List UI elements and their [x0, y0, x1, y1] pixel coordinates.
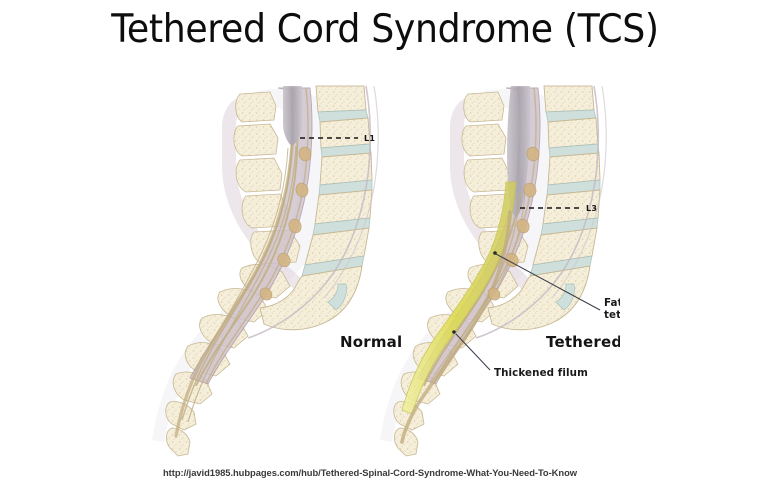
annotation-label-fatty-tissue-line1: Fatty tissue may [604, 297, 620, 309]
spine-diagram: L1 Normal [150, 62, 620, 457]
level-label-l1: L1 [364, 134, 375, 143]
level-label-l3: L3 [586, 204, 597, 213]
source-url-caption: http://javid1985.hubpages.com/hub/Tether… [163, 466, 583, 480]
spine-illustration-svg: L1 Normal [150, 62, 620, 457]
filum-leader-line [456, 334, 490, 370]
panel-tethered: L3 Tethered cord Thickened filum Fatty t… [380, 62, 620, 456]
panel-label-tethered: Tethered cord [546, 333, 620, 351]
annotation-label-thickened-filum: Thickened filum [494, 367, 588, 379]
source-url-line2: ow [564, 467, 577, 478]
panel-label-normal: Normal [340, 333, 402, 351]
panel-normal: L1 Normal [152, 62, 402, 456]
source-url-line1: http://javid1985.hubpages.com/hub/Tether… [163, 467, 564, 478]
annotation-label-fatty-tissue-line2: tether the filum [604, 309, 620, 321]
page-title: Tethered Cord Syndrome (TCS) [27, 8, 743, 53]
